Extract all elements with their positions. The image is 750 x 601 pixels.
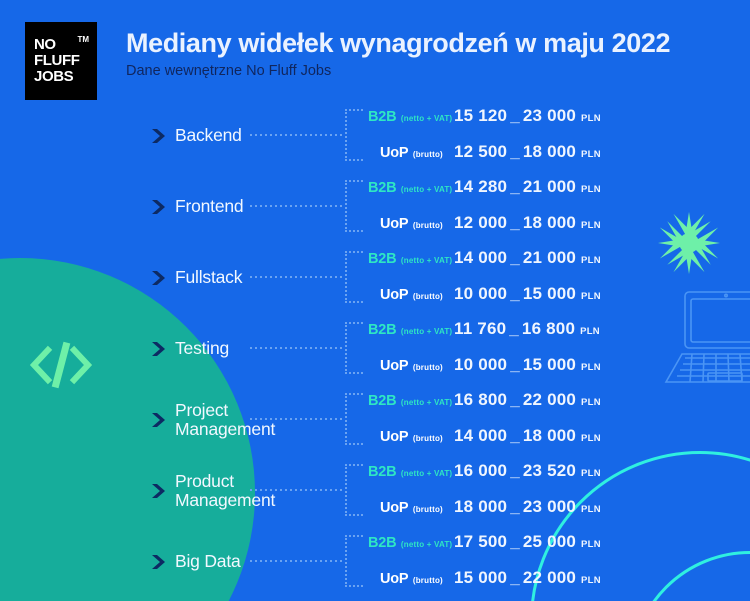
b2b-tag: B2B (netto + VAT) [368,179,452,197]
uop-currency: PLN [581,362,601,373]
uop-separator: _ [507,142,523,161]
b2b-amount: 14 000_21 000 PLN [454,248,601,268]
uop-max: 18 000 [523,426,576,445]
salary-rows: Backend B2B (netto + VAT) 15 120_23 000 … [0,100,750,597]
uop-separator: _ [507,568,523,587]
b2b-label: B2B [368,251,396,267]
b2b-max: 16 800 [522,319,575,338]
uop-tag: UoP (brutto) [380,144,443,162]
uop-line: UoP (brutto) 12 000_18 000 PLN [368,213,738,242]
category-label: Frontend [175,197,243,216]
uop-label: UoP [380,571,408,587]
salary-row-5: Project Management B2B (netto + VAT) 16 … [0,384,750,455]
connector-line [250,560,345,562]
uop-tag: UoP (brutto) [380,286,443,304]
salary-row-7: Big Data B2B (netto + VAT) 17 500_25 000… [0,526,750,597]
b2b-label: B2B [368,393,396,409]
category-label: Fullstack [175,268,242,287]
b2b-min: 17 500 [454,532,507,551]
b2b-note: (netto + VAT) [401,469,452,478]
connector-line [250,347,345,349]
uop-note: (brutto) [413,150,443,159]
b2b-note: (netto + VAT) [401,327,452,336]
uop-note: (brutto) [413,292,443,301]
b2b-line: B2B (netto + VAT) 16 000_23 520 PLN [368,461,738,490]
uop-max: 18 000 [523,142,576,161]
uop-line: UoP (brutto) 18 000_23 000 PLN [368,497,738,526]
b2b-separator: _ [507,390,523,409]
b2b-tag: B2B (netto + VAT) [368,250,452,268]
uop-currency: PLN [581,504,601,515]
b2b-line: B2B (netto + VAT) 15 120_23 000 PLN [368,106,738,135]
salary-pair: B2B (netto + VAT) 11 760_16 800 PLN UoP … [368,319,738,384]
uop-min: 18 000 [454,497,507,516]
salary-pair: B2B (netto + VAT) 14 280_21 000 PLN UoP … [368,177,738,242]
logo-line-3: JOBS [34,69,97,85]
b2b-note: (netto + VAT) [401,540,452,549]
b2b-label: B2B [368,535,396,551]
page-title: Mediany widełek wynagrodzeń w maju 2022 [126,28,670,59]
uop-currency: PLN [581,433,601,444]
uop-separator: _ [507,497,523,516]
b2b-amount: 17 500_25 000 PLN [454,532,601,552]
salary-pair: B2B (netto + VAT) 16 000_23 520 PLN UoP … [368,461,738,526]
uop-min: 15 000 [454,568,507,587]
connector-line [250,418,345,420]
b2b-currency: PLN [581,113,601,124]
uop-min: 14 000 [454,426,507,445]
b2b-tag: B2B (netto + VAT) [368,392,452,410]
b2b-separator: _ [507,106,523,125]
b2b-note: (netto + VAT) [401,185,452,194]
uop-currency: PLN [581,149,601,160]
uop-line: UoP (brutto) 14 000_18 000 PLN [368,426,738,455]
uop-currency: PLN [581,291,601,302]
salary-row-3: Fullstack B2B (netto + VAT) 14 000_21 00… [0,242,750,313]
b2b-separator: _ [507,532,523,551]
b2b-amount: 16 000_23 520 PLN [454,461,601,481]
category-label: Backend [175,126,242,145]
uop-min: 12 000 [454,213,507,232]
b2b-separator: _ [506,319,522,338]
uop-note: (brutto) [413,363,443,372]
b2b-separator: _ [507,177,523,196]
uop-note: (brutto) [413,221,443,230]
connector-bracket [345,109,363,161]
uop-min: 12 500 [454,142,507,161]
page-subtitle: Dane wewnętrzne No Fluff Jobs [126,63,331,79]
uop-tag: UoP (brutto) [380,357,443,375]
b2b-label: B2B [368,322,396,338]
salary-row-4: Testing B2B (netto + VAT) 11 760_16 800 … [0,313,750,384]
b2b-currency: PLN [581,255,601,266]
nofluffjobs-logo: TM NO FLUFF JOBS [25,22,97,100]
b2b-tag: B2B (netto + VAT) [368,108,452,126]
chevron-right-icon [150,554,167,570]
b2b-max: 23 000 [523,106,576,125]
b2b-tag: B2B (netto + VAT) [368,463,452,481]
b2b-note: (netto + VAT) [401,256,452,265]
category-group: Fullstack [150,242,242,313]
b2b-amount: 11 760_16 800 PLN [454,319,600,339]
chevron-right-icon [150,412,167,428]
category-label: Big Data [175,552,241,571]
b2b-currency: PLN [581,539,601,550]
b2b-note: (netto + VAT) [401,398,452,407]
uop-amount: 14 000_18 000 PLN [454,426,601,446]
salary-row-2: Frontend B2B (netto + VAT) 14 280_21 000… [0,171,750,242]
connector-line [250,205,345,207]
connector-line [250,134,345,136]
b2b-max: 22 000 [523,390,576,409]
uop-amount: 15 000_22 000 PLN [454,568,601,588]
b2b-label: B2B [368,109,396,125]
uop-tag: UoP (brutto) [380,428,443,446]
connector-bracket [345,393,363,445]
uop-label: UoP [380,216,408,232]
uop-line: UoP (brutto) 10 000_15 000 PLN [368,284,738,313]
chevron-right-icon [150,483,167,499]
uop-label: UoP [380,287,408,303]
b2b-min: 16 800 [454,390,507,409]
uop-separator: _ [507,355,523,374]
uop-currency: PLN [581,575,601,586]
connector-bracket [345,251,363,303]
b2b-max: 23 520 [523,461,576,480]
uop-currency: PLN [581,220,601,231]
uop-amount: 12 500_18 000 PLN [454,142,601,162]
uop-max: 18 000 [523,213,576,232]
b2b-tag: B2B (netto + VAT) [368,534,452,552]
salary-row-1: Backend B2B (netto + VAT) 15 120_23 000 … [0,100,750,171]
uop-line: UoP (brutto) 10 000_15 000 PLN [368,355,738,384]
salary-pair: B2B (netto + VAT) 14 000_21 000 PLN UoP … [368,248,738,313]
b2b-label: B2B [368,464,396,480]
uop-tag: UoP (brutto) [380,570,443,588]
uop-max: 23 000 [523,497,576,516]
b2b-separator: _ [507,461,523,480]
uop-separator: _ [507,213,523,232]
uop-min: 10 000 [454,284,507,303]
salary-row-6: Product Management B2B (netto + VAT) 16 … [0,455,750,526]
b2b-min: 11 760 [454,319,506,338]
b2b-min: 15 120 [454,106,507,125]
salary-pair: B2B (netto + VAT) 16 800_22 000 PLN UoP … [368,390,738,455]
b2b-currency: PLN [581,397,601,408]
chevron-right-icon [150,128,167,144]
b2b-max: 25 000 [523,532,576,551]
trademark-symbol: TM [77,35,89,44]
b2b-amount: 15 120_23 000 PLN [454,106,601,126]
uop-label: UoP [380,500,408,516]
uop-max: 22 000 [523,568,576,587]
salary-pair: B2B (netto + VAT) 15 120_23 000 PLN UoP … [368,106,738,171]
logo-line-2: FLUFF [34,53,97,69]
salary-pair: B2B (netto + VAT) 17 500_25 000 PLN UoP … [368,532,738,597]
b2b-line: B2B (netto + VAT) 14 000_21 000 PLN [368,248,738,277]
chevron-right-icon [150,199,167,215]
uop-label: UoP [380,429,408,445]
b2b-line: B2B (netto + VAT) 16 800_22 000 PLN [368,390,738,419]
b2b-tag: B2B (netto + VAT) [368,321,452,339]
chevron-right-icon [150,341,167,357]
b2b-currency: PLN [581,468,601,479]
uop-note: (brutto) [413,576,443,585]
category-label: Testing [175,339,229,358]
b2b-min: 16 000 [454,461,507,480]
uop-max: 15 000 [523,355,576,374]
b2b-separator: _ [507,248,523,267]
connector-bracket [345,322,363,374]
b2b-max: 21 000 [523,248,576,267]
uop-amount: 18 000_23 000 PLN [454,497,601,517]
b2b-line: B2B (netto + VAT) 11 760_16 800 PLN [368,319,738,348]
chevron-right-icon [150,270,167,286]
connector-line [250,489,345,491]
b2b-min: 14 000 [454,248,507,267]
uop-label: UoP [380,358,408,374]
connector-line [250,276,345,278]
category-group: Backend [150,100,242,171]
b2b-max: 21 000 [523,177,576,196]
uop-label: UoP [380,145,408,161]
b2b-line: B2B (netto + VAT) 17 500_25 000 PLN [368,532,738,561]
category-group: Big Data [150,526,241,597]
uop-line: UoP (brutto) 12 500_18 000 PLN [368,142,738,171]
b2b-label: B2B [368,180,396,196]
b2b-amount: 14 280_21 000 PLN [454,177,601,197]
uop-min: 10 000 [454,355,507,374]
uop-amount: 10 000_15 000 PLN [454,355,601,375]
b2b-currency: PLN [581,184,601,195]
b2b-amount: 16 800_22 000 PLN [454,390,601,410]
uop-separator: _ [507,284,523,303]
uop-note: (brutto) [413,505,443,514]
uop-amount: 10 000_15 000 PLN [454,284,601,304]
uop-note: (brutto) [413,434,443,443]
uop-tag: UoP (brutto) [380,499,443,517]
connector-bracket [345,464,363,516]
connector-bracket [345,535,363,587]
uop-separator: _ [507,426,523,445]
uop-tag: UoP (brutto) [380,215,443,233]
b2b-currency: PLN [580,326,600,337]
b2b-note: (netto + VAT) [401,114,452,123]
uop-max: 15 000 [523,284,576,303]
b2b-min: 14 280 [454,177,507,196]
category-group: Testing [150,313,229,384]
b2b-line: B2B (netto + VAT) 14 280_21 000 PLN [368,177,738,206]
uop-amount: 12 000_18 000 PLN [454,213,601,233]
uop-line: UoP (brutto) 15 000_22 000 PLN [368,568,738,597]
connector-bracket [345,180,363,232]
infographic-canvas: TM NO FLUFF JOBS Mediany widełek wynagro… [0,0,750,601]
category-group: Frontend [150,171,243,242]
